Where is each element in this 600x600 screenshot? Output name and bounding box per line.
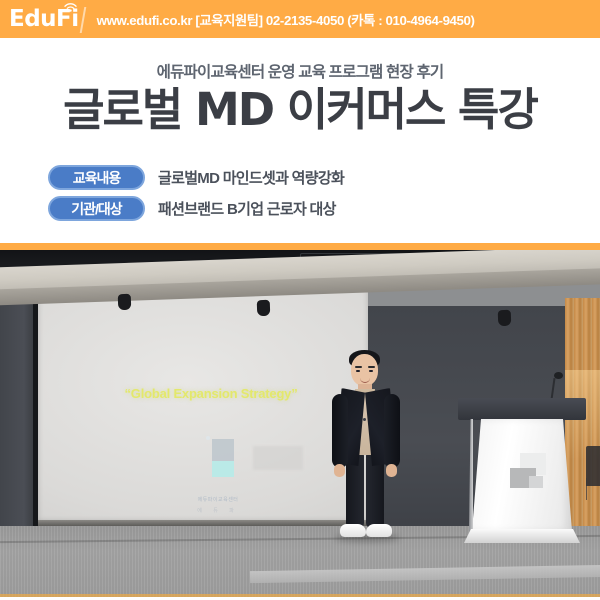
venue-photo: “Global Expansion Strategy” 에듀파이교육센터 에 듀… bbox=[0, 250, 600, 597]
presenter bbox=[318, 346, 414, 548]
podium-logo-block bbox=[529, 476, 543, 488]
chair-legs bbox=[586, 478, 600, 500]
promo-card: EduFi www.edufi.co.kr [교육지원팀] 02-2135-40… bbox=[0, 0, 600, 600]
presenter-jacket-button bbox=[363, 418, 366, 421]
podium bbox=[466, 398, 578, 548]
podium-edge bbox=[469, 419, 473, 531]
slide-footer-text: 에듀파이교육센터 bbox=[158, 496, 278, 503]
bottom-accent-line bbox=[0, 594, 600, 597]
presenter-arm-right bbox=[384, 394, 400, 468]
track-light-icon bbox=[257, 300, 271, 316]
detail-rows: 교육내용 글로벌MD 마인드셋과 역량강화 기관/대상 패션브랜드 B기업 근로… bbox=[48, 165, 344, 221]
slide-footer-text-2: 에 듀 파 bbox=[158, 507, 278, 514]
info-band: 에듀파이교육센터 운영 교육 프로그램 현장 후기 글로벌 MD 이커머스 특강… bbox=[0, 38, 600, 243]
edufi-logo[interactable]: EduFi bbox=[9, 8, 79, 31]
page-title: 글로벌 MD 이커머스 특강 bbox=[0, 86, 600, 133]
detail-row: 기관/대상 패션브랜드 B기업 근로자 대상 bbox=[48, 196, 344, 221]
presenter-shoe-right bbox=[366, 524, 392, 537]
orange-divider bbox=[0, 243, 600, 250]
detail-text-curriculum: 글로벌MD 마인드셋과 역량강화 bbox=[158, 167, 344, 188]
wifi-signal-icon bbox=[64, 2, 77, 12]
presenter-hand-right bbox=[386, 464, 397, 477]
presenter-eyebrow bbox=[355, 366, 362, 368]
presenter-eye bbox=[356, 370, 360, 372]
podium-base bbox=[464, 529, 580, 543]
presenter-eye bbox=[369, 370, 373, 372]
slide-graphic bbox=[212, 439, 234, 477]
badge-curriculum: 교육내용 bbox=[48, 165, 145, 190]
track-light-icon bbox=[118, 294, 132, 310]
badge-audience: 기관/대상 bbox=[48, 196, 145, 221]
slide-blur-shape bbox=[253, 446, 303, 470]
left-wall bbox=[0, 280, 34, 530]
detail-text-audience: 패션브랜드 B기업 근로자 대상 bbox=[158, 198, 336, 219]
track-light-icon bbox=[498, 310, 512, 326]
contact-info[interactable]: www.edufi.co.kr [교육지원팀] 02-2135-4050 (카톡… bbox=[97, 10, 475, 29]
presenter-shoe-left bbox=[340, 524, 366, 537]
subtitle: 에듀파이교육센터 운영 교육 프로그램 현장 후기 bbox=[0, 60, 600, 82]
detail-row: 교육내용 글로벌MD 마인드셋과 역량강화 bbox=[48, 165, 344, 190]
microphone-icon bbox=[554, 372, 563, 379]
presenter-eyebrow bbox=[368, 366, 375, 368]
presenter-hand-left bbox=[334, 464, 345, 477]
presenter-arm-left bbox=[332, 394, 348, 468]
slide-title: “Global Expansion Strategy” bbox=[76, 386, 346, 401]
logo-divider bbox=[79, 7, 86, 33]
top-contact-bar: EduFi www.edufi.co.kr [교육지원팀] 02-2135-40… bbox=[0, 0, 600, 38]
podium-top bbox=[458, 398, 586, 420]
slide-dot bbox=[206, 436, 210, 440]
